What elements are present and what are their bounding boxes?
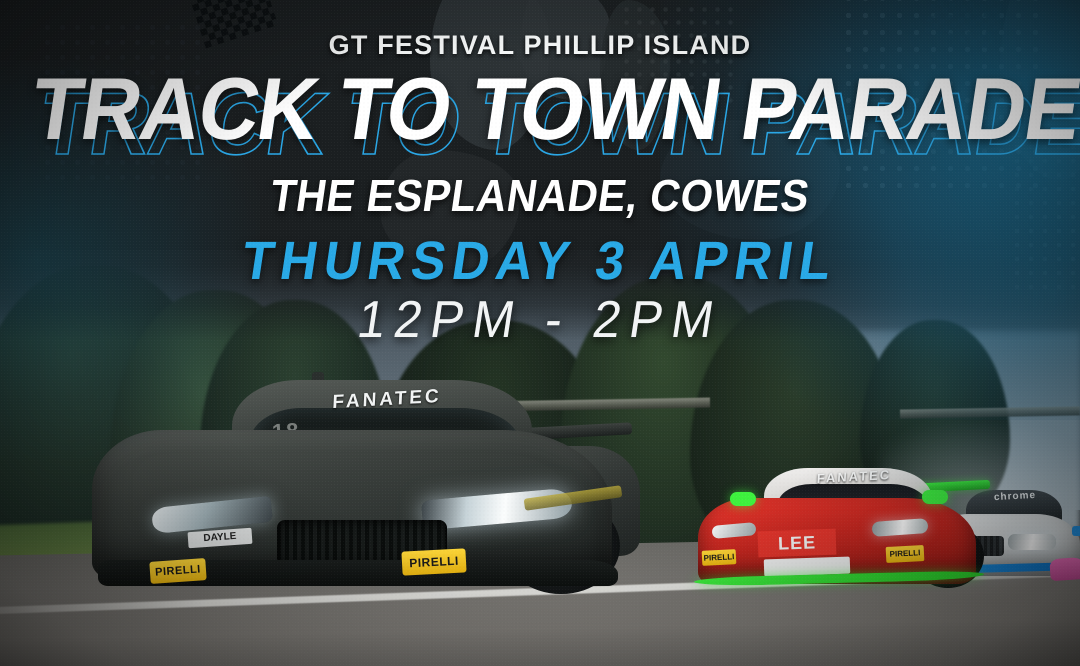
car-tyre-decal: PIRELLI bbox=[149, 558, 206, 584]
headline-group: TRACK TO TOWN PARADE TRACK TO TOWN PARAD… bbox=[0, 66, 1080, 152]
event-poster: chrome FANATEC LEE PIRELLI PIRELLI bbox=[0, 0, 1080, 666]
car-pink-panel bbox=[1049, 557, 1080, 581]
car-tyre-decal: PIRELLI bbox=[702, 549, 737, 566]
poster-text-block: GT FESTIVAL PHILLIP ISLAND TRACK TO TOWN… bbox=[0, 0, 1080, 360]
page-title: TRACK TO TOWN PARADE bbox=[26, 66, 1054, 152]
car-tyre-decal: PIRELLI bbox=[886, 545, 925, 563]
event-time: 12PM - 2PM bbox=[17, 288, 1064, 352]
event-date: THURSDAY 3 APRIL bbox=[22, 228, 1058, 294]
car-tyre-decal: PIRELLI bbox=[401, 548, 466, 575]
event-kicker: GT FESTIVAL PHILLIP ISLAND bbox=[0, 27, 1080, 63]
car-green-fin bbox=[730, 492, 756, 506]
event-location: THE ESPLANADE, COWES bbox=[39, 168, 1041, 224]
